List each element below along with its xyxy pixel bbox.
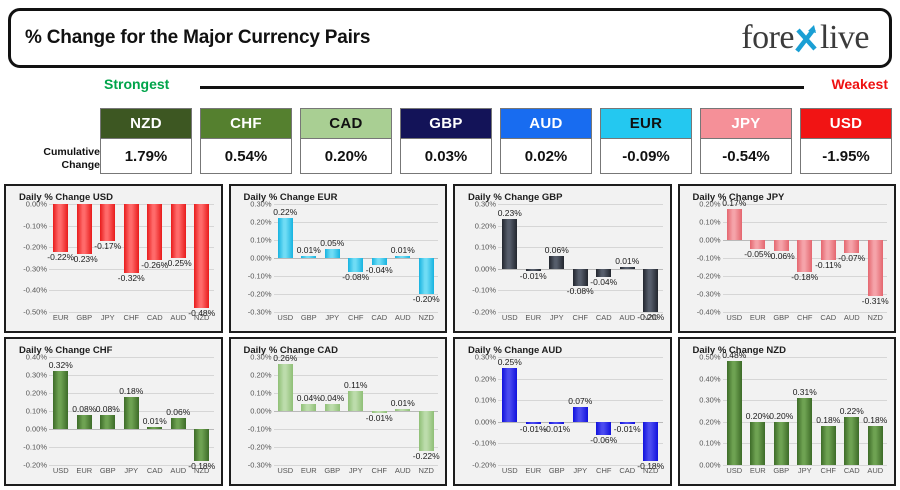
bar-slot: -0.32% [120, 204, 144, 312]
y-axis-tick: 0.10% [250, 388, 271, 397]
y-axis-tick: 0.30% [26, 370, 47, 379]
bar-value-label: -0.06% [768, 251, 795, 261]
bar-value-label: -0.01% [543, 424, 570, 434]
chart-panel-nzd: Daily % Change NZD0.50%0.40%0.30%0.20%0.… [678, 337, 897, 486]
gridlines: 0.26%0.04%0.04%0.11%-0.01%0.01%-0.22% [274, 357, 439, 465]
bar-value-label: -0.04% [590, 277, 617, 287]
bar-slot: 0.01% [391, 204, 415, 312]
bar-slot: -0.20% [639, 204, 663, 312]
bar-eur [750, 240, 765, 249]
bar-slot: -0.08% [569, 204, 593, 312]
bar-value-label: 0.01% [615, 256, 639, 266]
bar-value-label: -0.01% [614, 424, 641, 434]
bar-cad [844, 417, 859, 465]
x-axis-tick: GBP [321, 466, 345, 479]
x-axis-tick: JPY [344, 466, 368, 479]
ranking-value-chf: 0.54% [200, 138, 292, 174]
ranking-cards: NZD1.79%CHF0.54%CAD0.20%GBP0.03%AUD0.02%… [100, 108, 892, 178]
bar-gbp [301, 256, 316, 258]
x-axis-tick: NZD [639, 466, 663, 479]
x-axis-tick: CAD [616, 466, 640, 479]
chart-panel-chf: Daily % Change CHF0.40%0.30%0.20%0.10%0.… [4, 337, 223, 486]
bar-value-label: 0.05% [320, 238, 344, 248]
bar-usd [53, 371, 68, 429]
bar-aud [395, 256, 410, 258]
bar-slot: 0.18% [817, 357, 841, 465]
bar-slot: 0.26% [274, 357, 298, 465]
x-axis-tick: NZD [415, 313, 439, 326]
x-axis-tick: EUR [522, 313, 546, 326]
bars-container: 0.23%-0.01%0.06%-0.08%-0.04%0.01%-0.20% [498, 204, 663, 312]
bar-usd [727, 209, 742, 240]
bar-value-label: -0.07% [838, 253, 865, 263]
bar-value-label: -0.04% [366, 265, 393, 275]
bar-gbp [774, 240, 789, 251]
bar-usd [502, 368, 517, 422]
y-axis-tick: 0.30% [250, 200, 271, 209]
y-axis-tick: 0.00% [26, 424, 47, 433]
bar-value-label: 0.18% [816, 415, 840, 425]
ranking-value-usd: -1.95% [800, 138, 892, 174]
gridlines: 0.32%0.08%0.08%0.18%0.01%0.06%-0.18% [49, 357, 214, 465]
bar-slot: 0.23% [498, 204, 522, 312]
x-axis-tick: CHF [592, 466, 616, 479]
x-axis-tick: JPY [545, 313, 569, 326]
y-axis-tick: 0.40% [26, 353, 47, 362]
bar-slot: -0.05% [746, 204, 770, 312]
bar-eur [301, 404, 316, 411]
bar-value-label: -0.23% [71, 254, 98, 264]
x-axis-tick: USD [498, 466, 522, 479]
y-axis: 0.30%0.20%0.10%0.00%-0.10%-0.20%-0.30% [236, 357, 274, 465]
ranking-card-usd: USD-1.95% [800, 108, 892, 178]
bar-slot: 0.20% [770, 357, 794, 465]
ranking-value-aud: 0.02% [500, 138, 592, 174]
x-axis-tick: JPY [321, 313, 345, 326]
x-axis-tick: NZD [639, 313, 663, 326]
x-axis-tick: CAD [840, 466, 864, 479]
x-axis-tick: GBP [73, 313, 97, 326]
ranking-currency-cad: CAD [300, 108, 392, 138]
bar-value-label: 0.06% [545, 245, 569, 255]
x-axis-tick: NZD [415, 466, 439, 479]
bar-slot: -0.22% [49, 204, 73, 312]
bar-slot: -0.04% [368, 204, 392, 312]
bar-gbp [77, 204, 92, 254]
bar-usd [502, 219, 517, 269]
ranking-card-gbp: GBP0.03% [400, 108, 492, 178]
chart-panel-aud: Daily % Change AUD0.30%0.20%0.10%0.00%-0… [453, 337, 672, 486]
cumulative-change-label-line1: Cumulative [43, 146, 100, 158]
x-axis-tick: AUD [167, 313, 191, 326]
y-axis-tick: -0.10% [248, 271, 272, 280]
bar-aud [868, 426, 883, 465]
x-axis-tick: CHF [344, 313, 368, 326]
ranking-card-jpy: JPY-0.54% [700, 108, 792, 178]
chart-panel-cad: Daily % Change CAD0.30%0.20%0.10%0.00%-0… [229, 337, 448, 486]
x-axis: USDEURGBPJPYCADAUDNZD [49, 466, 214, 479]
y-axis-tick: -0.20% [23, 461, 47, 470]
bar-slot: -0.01% [545, 357, 569, 465]
y-axis-tick: 0.10% [250, 235, 271, 244]
bar-slot: -0.25% [167, 204, 191, 312]
bar-aud [171, 418, 186, 429]
bar-aud [171, 204, 186, 258]
bar-slot: -0.01% [368, 357, 392, 465]
x-axis: USDEURJPYCHFCADAUDNZD [498, 313, 663, 326]
y-axis-tick: -0.30% [248, 308, 272, 317]
y-axis-tick: 0.00% [250, 254, 271, 263]
bar-slot: 0.04% [297, 357, 321, 465]
x-axis: USDEURGBPJPYCHFCADNZD [498, 466, 663, 479]
bar-slot: 0.17% [723, 204, 747, 312]
bar-slot: -0.26% [143, 204, 167, 312]
x-axis: EURGBPJPYCHFCADAUDNZD [49, 313, 214, 326]
bar-value-label: -0.20% [413, 294, 440, 304]
bars-container: -0.22%-0.23%-0.17%-0.32%-0.26%-0.25%-0.4… [49, 204, 214, 312]
bars-container: 0.32%0.08%0.08%0.18%0.01%0.06%-0.18% [49, 357, 214, 465]
x-axis-tick: CHF [793, 313, 817, 326]
bar-value-label: 0.48% [722, 350, 746, 360]
bar-value-label: -0.06% [590, 435, 617, 445]
bar-slot: 0.07% [569, 357, 593, 465]
bar-usd [278, 364, 293, 411]
bar-value-label: 0.23% [498, 208, 522, 218]
x-axis-tick: GBP [96, 466, 120, 479]
x-axis-tick: NZD [190, 466, 214, 479]
bar-value-label: -0.08% [567, 286, 594, 296]
x-axis-tick: GBP [770, 466, 794, 479]
y-axis-tick: 0.20% [26, 388, 47, 397]
bar-slot: 0.06% [167, 357, 191, 465]
bar-slot: -0.17% [96, 204, 120, 312]
bar-nzd [419, 258, 434, 294]
chart-panel-gbp: Daily % Change GBP0.30%0.20%0.10%0.00%-0… [453, 184, 672, 333]
bar-slot: 0.18% [120, 357, 144, 465]
bar-chf [797, 240, 812, 272]
y-axis-tick: -0.10% [697, 254, 721, 263]
bar-cad [147, 427, 162, 429]
chart-title: Daily % Change CHF [19, 345, 216, 356]
y-axis-tick: 0.50% [699, 353, 720, 362]
x-axis-tick: GBP [770, 313, 794, 326]
y-axis-tick: -0.10% [472, 286, 496, 295]
bar-slot: 0.20% [746, 357, 770, 465]
x-axis-tick: CAD [817, 313, 841, 326]
bar-value-label: 0.18% [863, 415, 887, 425]
y-axis-tick: 0.00% [26, 200, 47, 209]
bar-slot: 0.06% [545, 204, 569, 312]
y-axis: 0.30%0.20%0.10%0.00%-0.10%-0.20%-0.30% [236, 204, 274, 312]
bars-container: 0.25%-0.01%-0.01%0.07%-0.06%-0.01%-0.18% [498, 357, 663, 465]
bar-aud [844, 240, 859, 253]
x-axis-tick: JPY [96, 313, 120, 326]
plot-area: 0.30%0.20%0.10%0.00%-0.10%-0.20%-0.30%0.… [236, 204, 441, 326]
x-axis-tick: JPY [793, 466, 817, 479]
bar-value-label: -0.17% [94, 241, 121, 251]
y-axis-tick: 0.30% [475, 353, 496, 362]
y-axis-tick: -0.30% [23, 264, 47, 273]
y-axis-tick: 0.20% [250, 370, 271, 379]
bar-slot: 0.11% [344, 357, 368, 465]
x-axis: USDEURGBPJPYCHFAUDNZD [274, 466, 439, 479]
bar-slot: -0.07% [840, 204, 864, 312]
x-axis-tick: AUD [167, 466, 191, 479]
bar-slot: 0.22% [840, 357, 864, 465]
bar-jpy [100, 204, 115, 241]
x-axis-tick: CAD [592, 313, 616, 326]
y-axis-tick: -0.40% [697, 308, 721, 317]
bar-aud [395, 409, 410, 411]
y-axis-tick: 0.00% [699, 235, 720, 244]
bar-gbp [774, 422, 789, 465]
y-axis-tick: -0.10% [23, 221, 47, 230]
y-axis-tick: 0.00% [475, 417, 496, 426]
bar-chf [348, 258, 363, 272]
y-axis-tick: -0.50% [23, 308, 47, 317]
bar-value-label: 0.32% [49, 360, 73, 370]
bar-value-label: -0.22% [413, 451, 440, 461]
y-axis: 0.30%0.20%0.10%0.00%-0.10%-0.20% [460, 357, 498, 465]
y-axis-tick: 0.20% [699, 417, 720, 426]
y-axis-tick: 0.30% [475, 200, 496, 209]
y-axis-tick: -0.20% [248, 443, 272, 452]
bar-chf [124, 204, 139, 273]
x-axis-tick: AUD [616, 313, 640, 326]
x-axis-tick: NZD [190, 313, 214, 326]
chart-title: Daily % Change AUD [468, 345, 665, 356]
bar-cad [596, 269, 611, 278]
y-axis: 0.20%0.10%0.00%-0.10%-0.20%-0.30%-0.40% [685, 204, 723, 312]
x-axis-tick: AUD [391, 466, 415, 479]
bar-slot: -0.01% [616, 357, 640, 465]
bar-slot: 0.08% [96, 357, 120, 465]
ranking-currency-eur: EUR [600, 108, 692, 138]
y-axis-tick: 0.00% [250, 407, 271, 416]
x-axis-tick: USD [723, 313, 747, 326]
x-axis-tick: AUD [391, 313, 415, 326]
bar-slot: 0.48% [723, 357, 747, 465]
bar-chf [596, 422, 611, 435]
bar-value-label: 0.06% [166, 407, 190, 417]
y-axis-tick: -0.20% [472, 461, 496, 470]
y-axis-tick: 0.20% [475, 221, 496, 230]
weakest-label: Weakest [831, 76, 888, 92]
bar-value-label: 0.08% [72, 404, 96, 414]
x-axis-tick: CHF [368, 466, 392, 479]
bar-aud [620, 267, 635, 269]
bar-value-label: 0.01% [297, 245, 321, 255]
y-axis-tick: 0.30% [250, 353, 271, 362]
x-axis-tick: EUR [746, 466, 770, 479]
y-axis-tick: -0.40% [23, 286, 47, 295]
scale-line [200, 86, 804, 89]
bar-slot: 0.25% [498, 357, 522, 465]
bar-slot: 0.32% [49, 357, 73, 465]
y-axis-tick: -0.20% [23, 243, 47, 252]
x-axis-tick: CHF [569, 313, 593, 326]
bar-jpy [573, 407, 588, 422]
ranking-card-cad: CAD0.20% [300, 108, 392, 178]
x-axis-tick: EUR [297, 466, 321, 479]
strongest-label: Strongest [104, 76, 169, 92]
y-axis-tick: -0.20% [248, 290, 272, 299]
ranking-card-aud: AUD0.02% [500, 108, 592, 178]
x-axis-tick: CAD [143, 313, 167, 326]
bar-value-label: 0.20% [769, 411, 793, 421]
bar-value-label: 0.07% [568, 396, 592, 406]
ranking-value-gbp: 0.03% [400, 138, 492, 174]
x-axis-tick: USD [498, 313, 522, 326]
bar-jpy [124, 397, 139, 429]
bar-slot: 0.31% [793, 357, 817, 465]
bar-value-label: -0.01% [366, 413, 393, 423]
ranking-value-cad: 0.20% [300, 138, 392, 174]
bar-value-label: -0.25% [165, 258, 192, 268]
bar-chf [821, 426, 836, 465]
plot-area: 0.50%0.40%0.30%0.20%0.10%0.00%0.48%0.20%… [685, 357, 890, 479]
chart-panel-eur: Daily % Change EUR0.30%0.20%0.10%0.00%-0… [229, 184, 448, 333]
ranking-currency-aud: AUD [500, 108, 592, 138]
y-axis-tick: -0.10% [23, 443, 47, 452]
bar-slot: 0.08% [73, 357, 97, 465]
bar-value-label: -0.31% [862, 296, 889, 306]
x-axis-tick: USD [274, 466, 298, 479]
x-axis-tick: JPY [569, 466, 593, 479]
bar-slot: 0.22% [274, 204, 298, 312]
ranking-currency-chf: CHF [200, 108, 292, 138]
y-axis-tick: -0.10% [472, 439, 496, 448]
y-axis: 0.00%-0.10%-0.20%-0.30%-0.40%-0.50% [11, 204, 49, 312]
title-bar: % Change for the Major Currency Pairs fo… [8, 8, 892, 68]
bar-value-label: 0.01% [143, 416, 167, 426]
bar-eur [750, 422, 765, 465]
bar-slot: -0.18% [639, 357, 663, 465]
bar-nzd [643, 422, 658, 461]
x-axis-tick: EUR [49, 313, 73, 326]
x-axis-tick: USD [723, 466, 747, 479]
bar-slot: -0.22% [415, 357, 439, 465]
bar-nzd [194, 429, 209, 461]
page-title: % Change for the Major Currency Pairs [25, 27, 370, 49]
bar-slot: -0.11% [817, 204, 841, 312]
x-axis-tick: CAD [143, 466, 167, 479]
cumulative-change-label-line2: Change [61, 159, 100, 171]
y-axis-tick: 0.30% [699, 396, 720, 405]
y-axis-tick: 0.10% [26, 407, 47, 416]
chart-grid: Daily % Change USD0.00%-0.10%-0.20%-0.30… [4, 184, 896, 486]
ranking-currency-usd: USD [800, 108, 892, 138]
bar-value-label: 0.08% [96, 404, 120, 414]
bar-slot: -0.18% [793, 204, 817, 312]
x-axis: USDEURGBPCHFCADAUDNZD [723, 313, 888, 326]
x-axis: USDGBPJPYCHFCADAUDNZD [274, 313, 439, 326]
bar-value-label: 0.01% [391, 398, 415, 408]
y-axis-tick: -0.30% [248, 461, 272, 470]
logo-text-before: fore [741, 21, 794, 55]
x-axis-tick: EUR [746, 313, 770, 326]
logo-x-arrow-icon [794, 21, 820, 55]
y-axis-tick: 0.00% [475, 264, 496, 273]
y-axis-tick: 0.40% [699, 374, 720, 383]
bar-value-label: -0.32% [118, 273, 145, 283]
bar-slot: -0.04% [592, 204, 616, 312]
y-axis-tick: 0.20% [699, 200, 720, 209]
gridlines: 0.22%0.01%0.05%-0.08%-0.04%0.01%-0.20% [274, 204, 439, 312]
y-axis-tick: 0.00% [699, 461, 720, 470]
ranking-card-nzd: NZD1.79% [100, 108, 192, 178]
bar-jpy [549, 256, 564, 269]
y-axis-tick: 0.20% [475, 374, 496, 383]
bar-slot: 0.01% [297, 204, 321, 312]
bar-value-label: 0.20% [746, 411, 770, 421]
x-axis-tick: AUD [864, 466, 888, 479]
bar-slot: -0.01% [522, 357, 546, 465]
bar-jpy [348, 391, 363, 411]
bar-value-label: 0.26% [273, 353, 297, 363]
y-axis-tick: -0.30% [697, 290, 721, 299]
bars-container: 0.48%0.20%0.20%0.31%0.18%0.22%0.18% [723, 357, 888, 465]
bar-eur [77, 415, 92, 429]
bar-slot: -0.31% [864, 204, 888, 312]
x-axis-tick: NZD [864, 313, 888, 326]
bar-value-label: 0.04% [297, 393, 321, 403]
bar-value-label: 0.31% [793, 387, 817, 397]
x-axis-tick: GBP [545, 466, 569, 479]
ranking-card-eur: EUR-0.09% [600, 108, 692, 178]
bar-slot: 0.01% [143, 357, 167, 465]
forexlive-logo: fore live [741, 21, 873, 55]
bar-jpy [325, 249, 340, 258]
bars-container: 0.22%0.01%0.05%-0.08%-0.04%0.01%-0.20% [274, 204, 439, 312]
bar-cad [147, 204, 162, 260]
plot-area: 0.40%0.30%0.20%0.10%0.00%-0.10%-0.20%0.3… [11, 357, 216, 479]
gridlines: 0.25%-0.01%-0.01%0.07%-0.06%-0.01%-0.18% [498, 357, 663, 465]
bar-cad [372, 258, 387, 265]
bar-slot: -0.06% [770, 204, 794, 312]
y-axis: 0.30%0.20%0.10%0.00%-0.10%-0.20% [460, 204, 498, 312]
x-axis-tick: USD [49, 466, 73, 479]
bar-slot: 0.18% [864, 357, 888, 465]
x-axis-tick: CHF [120, 313, 144, 326]
bar-usd [278, 218, 293, 258]
x-axis-tick: JPY [120, 466, 144, 479]
bar-slot: -0.06% [592, 357, 616, 465]
y-axis-tick: 0.10% [699, 439, 720, 448]
ranking-value-eur: -0.09% [600, 138, 692, 174]
plot-area: 0.30%0.20%0.10%0.00%-0.10%-0.20%0.23%-0.… [460, 204, 665, 326]
y-axis-tick: -0.20% [472, 308, 496, 317]
bar-nzd [643, 269, 658, 312]
cumulative-change-ranking: NZD1.79%CHF0.54%CAD0.20%GBP0.03%AUD0.02%… [0, 108, 900, 178]
chart-title: Daily % Change EUR [244, 192, 441, 203]
bar-value-label: 0.22% [273, 207, 297, 217]
chart-title: Daily % Change GBP [468, 192, 665, 203]
bar-slot: -0.18% [190, 357, 214, 465]
bar-value-label: -0.01% [520, 271, 547, 281]
bar-slot: -0.20% [415, 204, 439, 312]
bar-nzd [194, 204, 209, 308]
bar-usd [727, 361, 742, 465]
bar-value-label: 0.22% [840, 406, 864, 416]
bar-cad [821, 240, 836, 260]
bar-slot: 0.04% [321, 357, 345, 465]
bar-gbp [100, 415, 115, 429]
x-axis: USDEURGBPJPYCHFCADAUD [723, 466, 888, 479]
bar-slot: -0.23% [73, 204, 97, 312]
x-axis-tick: GBP [297, 313, 321, 326]
plot-area: 0.00%-0.10%-0.20%-0.30%-0.40%-0.50%-0.22… [11, 204, 216, 326]
